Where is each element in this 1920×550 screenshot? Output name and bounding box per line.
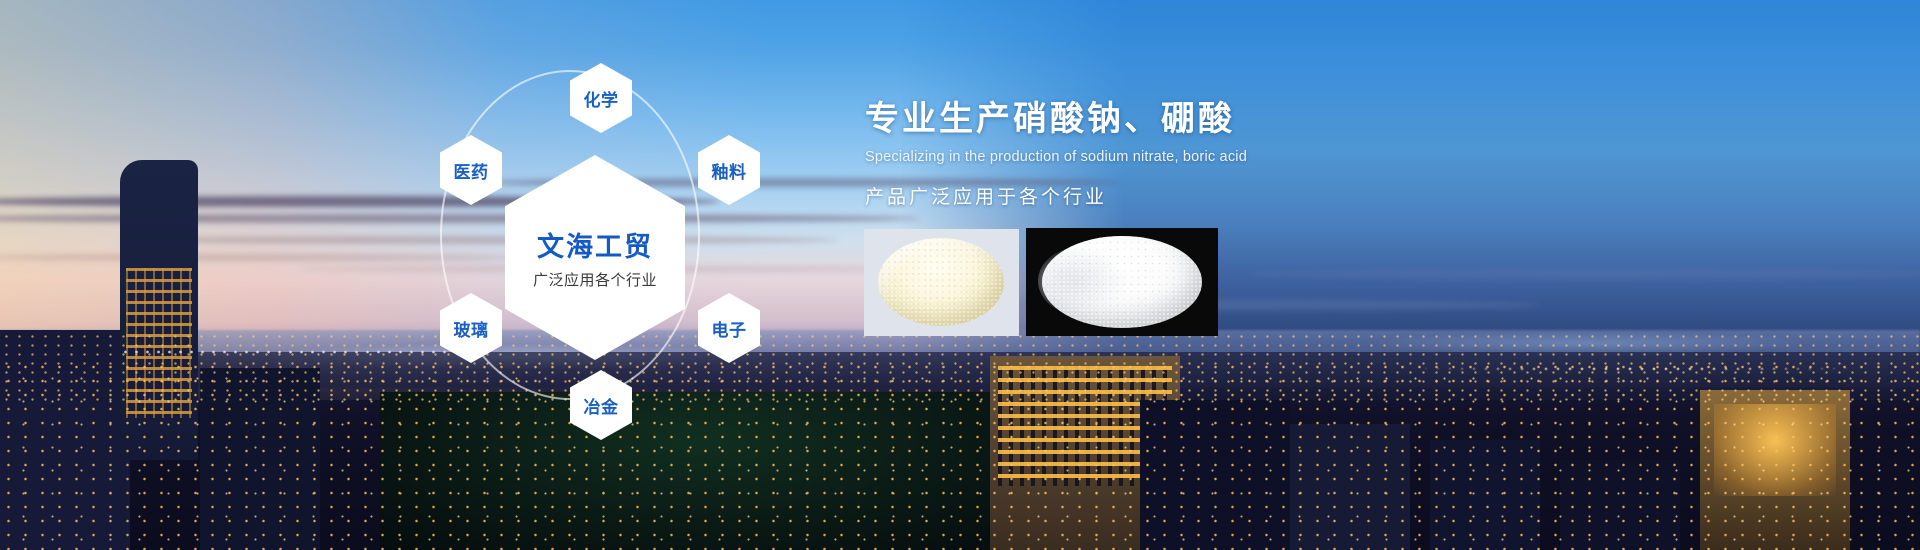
hexagon-node-label: 电子 <box>712 316 747 341</box>
bridge-lights <box>120 344 450 360</box>
hexagon-node-label: 玻璃 <box>454 316 489 341</box>
hexagon-node-label: 釉料 <box>712 158 747 183</box>
powder-pile <box>878 238 1004 326</box>
company-name: 文海工贸 <box>537 225 653 264</box>
hexagon-node-electronics[interactable]: 电子 <box>698 293 760 363</box>
headline-subtitle-chinese: 产品广泛应用于各个行业 <box>865 182 1565 209</box>
industry-hexagon-diagram: 文海工贸 广泛应用各个行业 化学 釉料 电子 冶金 玻璃 医药 <box>420 25 800 525</box>
hexagon-node-label: 医药 <box>454 158 489 183</box>
hexagon-node-label: 冶金 <box>584 393 619 418</box>
hexagon-node-glaze[interactable]: 釉料 <box>698 135 760 205</box>
product-photo-sodium-nitrate <box>864 229 1019 336</box>
cloud-streak <box>1250 268 1920 280</box>
bridge-lights <box>1420 356 1850 382</box>
city-lights <box>0 360 1920 550</box>
hexagon-node-label: 化学 <box>584 86 619 111</box>
headline-title: 专业生产硝酸钠、硼酸 <box>865 98 1565 141</box>
powder-pile <box>1042 236 1202 328</box>
company-tagline: 广泛应用各个行业 <box>533 269 657 290</box>
headline-subtitle-english: Specializing in the production of sodium… <box>865 149 1565 165</box>
product-photo-boric-acid <box>1026 228 1218 336</box>
promo-banner: 文海工贸 广泛应用各个行业 化学 釉料 电子 冶金 玻璃 医药 专业生产硝酸钠、… <box>0 0 1920 550</box>
headline-block: 专业生产硝酸钠、硼酸 Specializing in the productio… <box>865 98 1565 209</box>
